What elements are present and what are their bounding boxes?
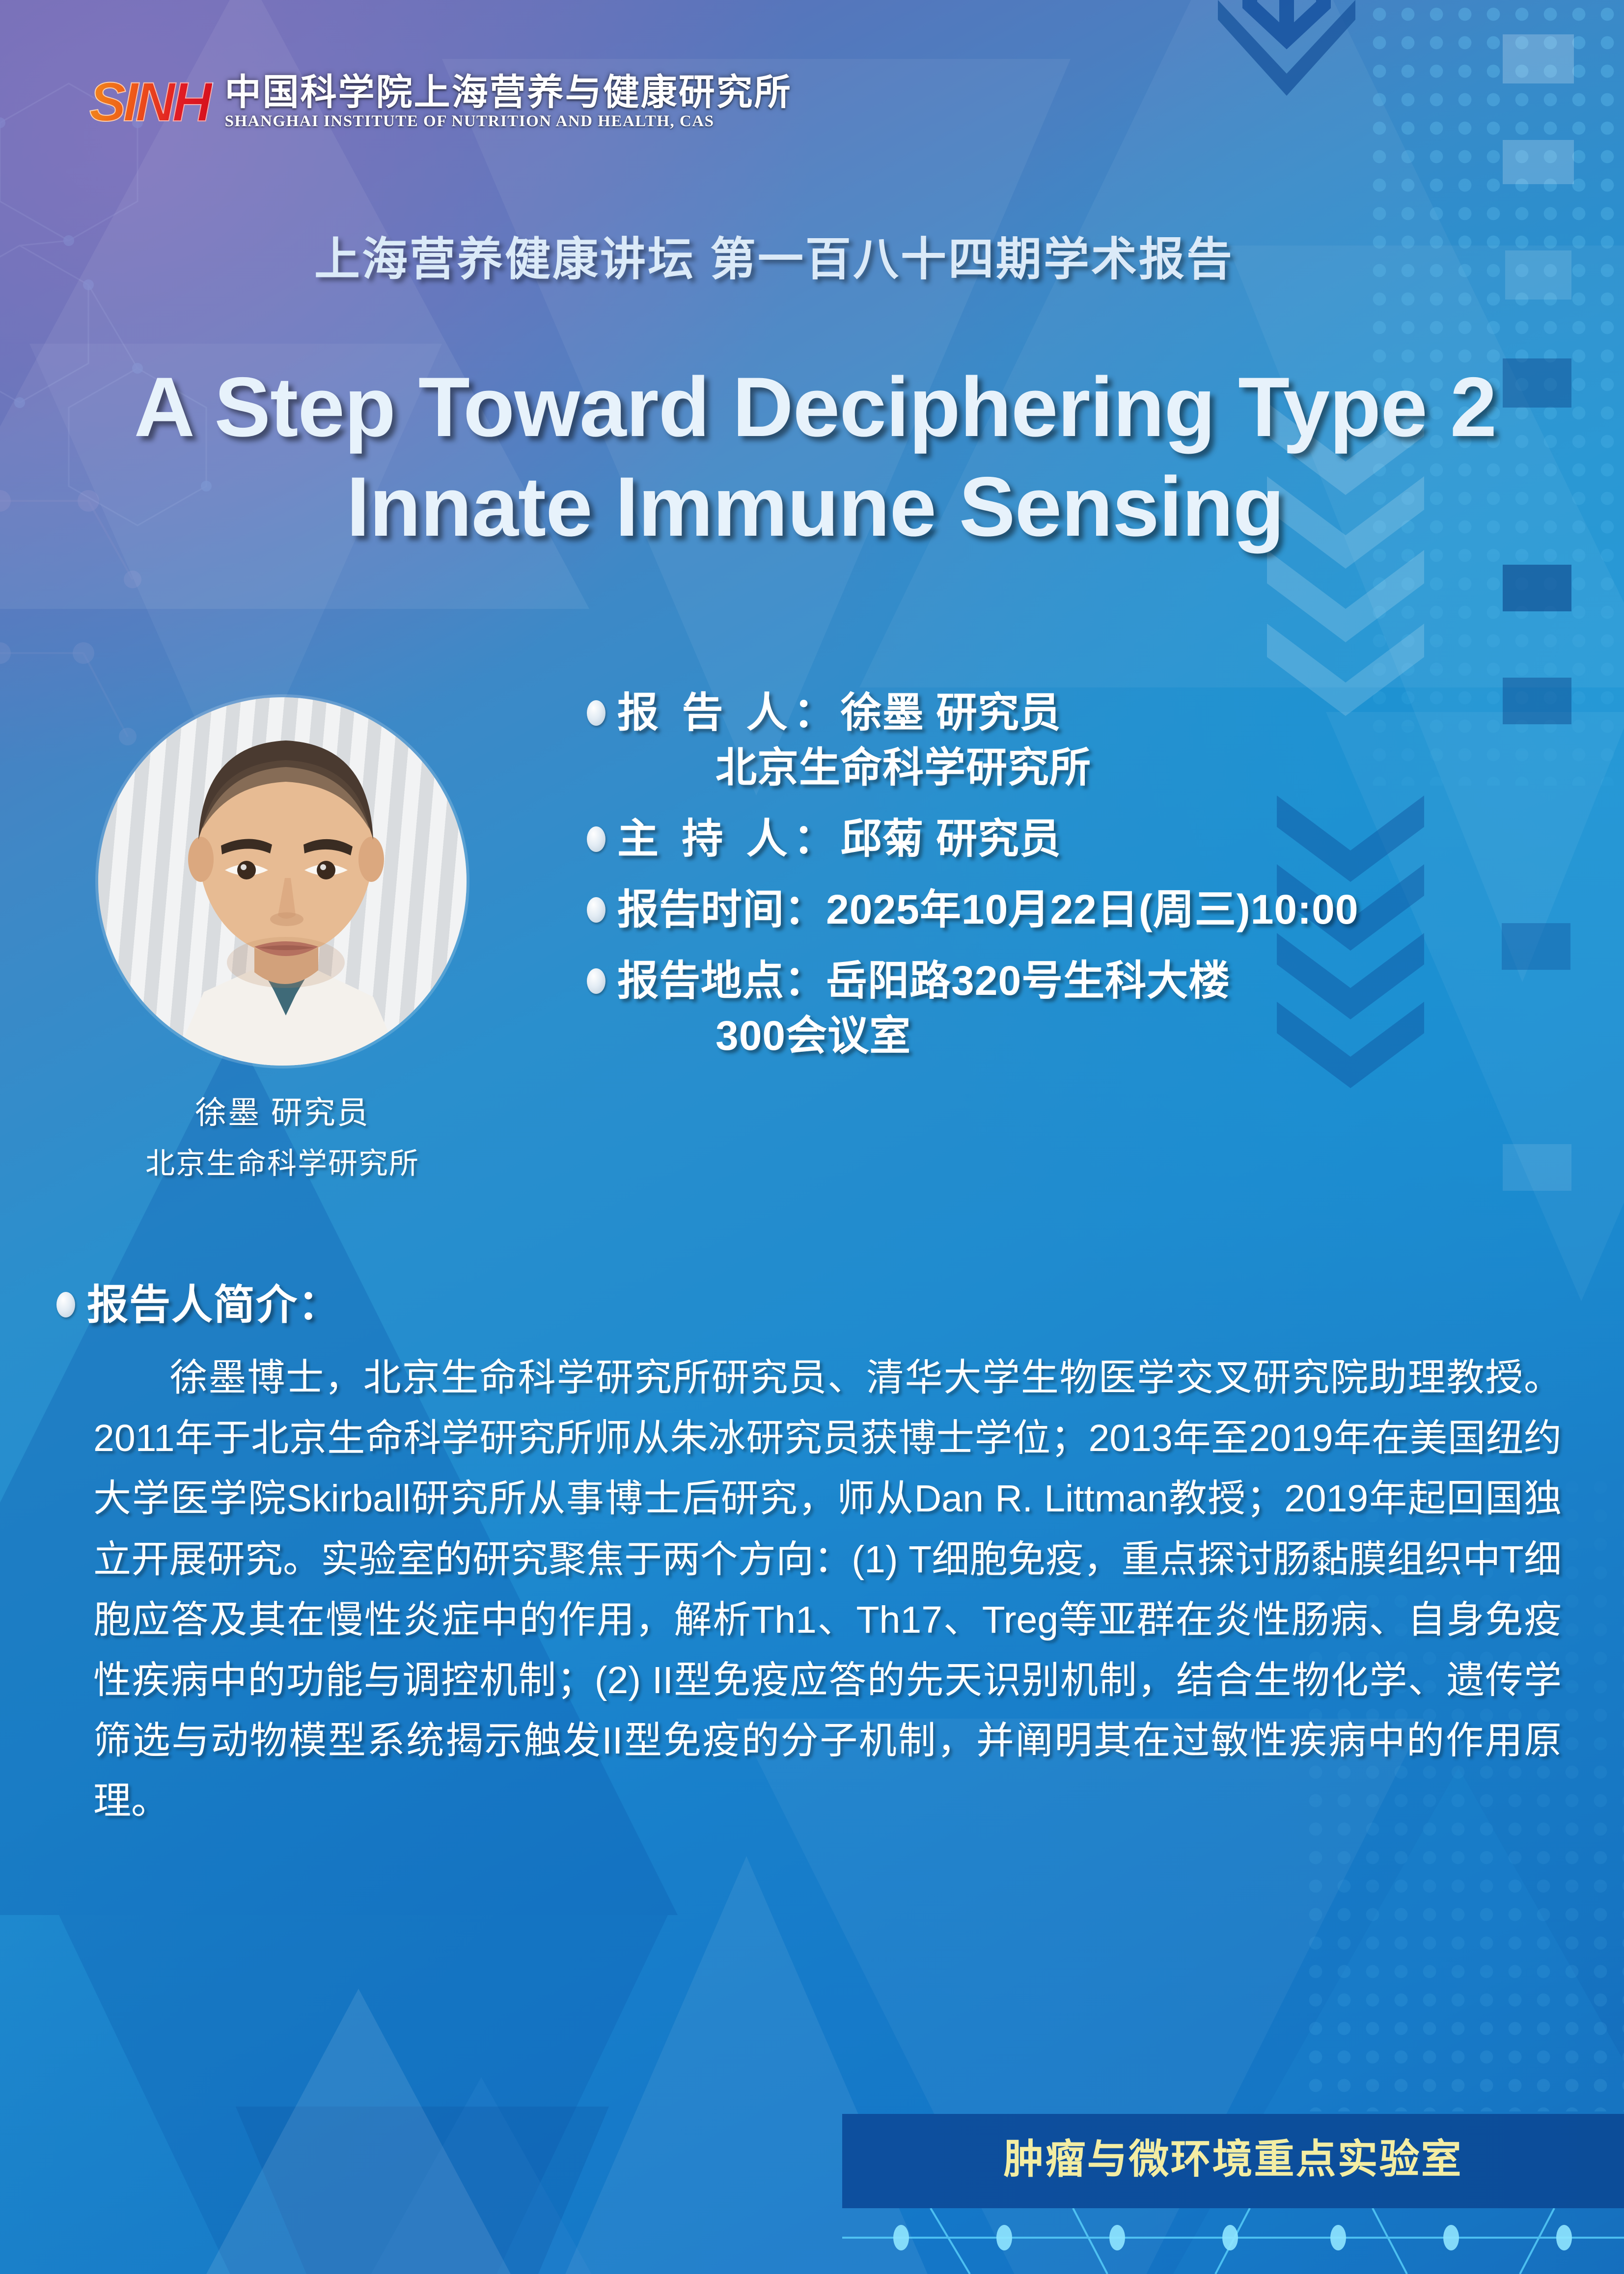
bg-square <box>1505 250 1571 300</box>
speaker-line: 报 告 人：徐墨 研究员 <box>617 687 1569 738</box>
bullet-icon <box>587 968 606 994</box>
host-name: 邱菊 研究员 <box>841 816 1061 862</box>
bullet-icon <box>587 826 606 852</box>
seminar-poster: SINH 中国科学院上海营养与健康研究所 SHANGHAI INSTITUTE … <box>0 0 1624 2274</box>
event-info-list: 报 告 人：徐墨 研究员 北京生命科学研究所 主 持 人：邱菊 研究员 报告时间… <box>587 687 1569 1082</box>
place-value-2: 300会议室 <box>716 1011 1569 1061</box>
down-arrow-icon <box>1203 0 1370 152</box>
lecture-title: A Step Toward Deciphering Type 2 Innate … <box>59 357 1571 557</box>
info-row-place: 报告地点：岳阳路320号生科大楼 300会议室 <box>587 956 1569 1061</box>
bio-paragraph: 徐墨博士，北京生命科学研究所研究员、清华大学生物医学交叉研究院助理教授。2011… <box>93 1348 1562 1832</box>
institute-name-en: SHANGHAI INSTITUTE OF NUTRITION AND HEAL… <box>225 113 792 130</box>
bullet-icon <box>587 700 606 726</box>
bg-square <box>1503 1144 1571 1191</box>
speaker-label: 报 告 人： <box>617 689 841 736</box>
bullet-icon <box>56 1292 75 1317</box>
institute-name-cn: 中国科学院上海营养与健康研究所 <box>225 74 792 110</box>
portrait-caption-name: 徐墨 研究员 <box>76 1088 489 1133</box>
speaker-name: 徐墨 研究员 <box>841 689 1061 736</box>
info-row-time: 报告时间：2025年10月22日(周三)10:00 <box>587 884 1569 934</box>
institute-logo: SINH 中国科学院上海营养与健康研究所 SHANGHAI INSTITUTE … <box>89 74 792 130</box>
series-subtitle: 上海营养健康讲坛 第一百八十四期学术报告 <box>314 222 1346 288</box>
time-value: 2025年10月22日(周三)10:00 <box>826 886 1359 932</box>
bg-square <box>1503 140 1574 184</box>
portrait-caption: 徐墨 研究员 北京生命科学研究所 <box>76 1088 489 1182</box>
info-row-speaker: 报 告 人：徐墨 研究员 北京生命科学研究所 <box>587 687 1569 793</box>
speaker-photo <box>98 697 467 1066</box>
bio-text: 徐墨博士，北京生命科学研究所研究员、清华大学生物医学交叉研究院助理教授。2011… <box>93 1357 1562 1822</box>
place-line: 报告地点：岳阳路320号生科大楼 <box>617 956 1569 1006</box>
place-value: 岳阳路320号生科大楼 <box>826 958 1230 1004</box>
info-row-host: 主 持 人：邱菊 研究员 <box>587 814 1569 864</box>
host-line: 主 持 人：邱菊 研究员 <box>617 814 1569 864</box>
footer-lab-name: 肿瘤与微环境重点实验室 <box>842 2126 1624 2185</box>
time-label: 报告时间： <box>617 886 826 932</box>
speaker-portrait <box>76 675 489 1088</box>
sinh-logo-mark: SINH <box>89 75 212 130</box>
bio-heading: 报告人简介： <box>56 1272 340 1331</box>
bg-triangle <box>123 1989 594 2274</box>
speaker-affiliation: 北京生命科学研究所 <box>716 742 1569 793</box>
host-label: 主 持 人： <box>617 816 841 862</box>
time-line: 报告时间：2025年10月22日(周三)10:00 <box>617 884 1569 934</box>
bg-square <box>1503 565 1571 611</box>
footer-circuit-graphic <box>842 2208 1624 2274</box>
portrait-caption-affiliation: 北京生命科学研究所 <box>76 1140 489 1182</box>
bg-square <box>1503 34 1574 83</box>
bullet-icon <box>587 897 606 923</box>
place-label: 报告地点： <box>617 958 826 1004</box>
bio-heading-text: 报告人简介： <box>87 1272 340 1331</box>
